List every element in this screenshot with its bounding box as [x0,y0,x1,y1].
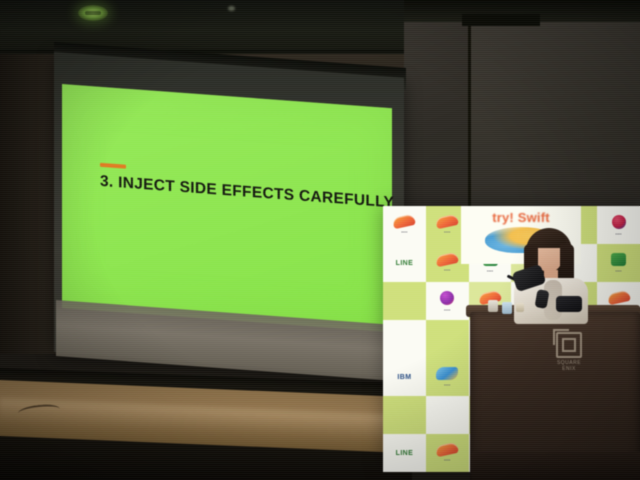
ceiling-light-icon [228,6,235,11]
sponsor-tile-caption: •••• [444,307,450,312]
sponsor-tile: •••• [426,434,469,472]
sponsor-tile [383,396,426,434]
sponsor-tile-caption: •••• [444,229,450,234]
sponsor-tile-content: •••• [436,216,458,234]
sponsor-tile-caption: •••• [615,268,621,273]
sponsor-tile-caption: •••• [615,231,621,236]
sponsor-tile-content: •••• [393,216,415,234]
sponsor-tile-caption: •••• [444,267,450,272]
sponsor-tile-content: LINE [396,260,414,267]
podium-base [472,452,640,480]
av-equipment [556,296,582,312]
sponsor-tile: IBM [383,358,426,396]
sponsor-tile-content: •••• [440,291,454,312]
circle-logo-icon [612,215,626,229]
sponsor-logo-label: LINE [396,450,414,457]
sponsor-logo-label: LINE [396,260,414,267]
circle-logo-purple-icon [440,291,454,305]
blue-swoosh-logo-icon [436,367,458,380]
banner-brand-text: try! Swift [492,210,550,225]
sponsor-tile-content: •••• [436,367,458,387]
shrimp-logo-icon [435,442,459,457]
exit-sign-icon [78,5,108,21]
sponsor-tile-content: IBM [397,374,411,381]
sponsor-tile: •••• [426,358,469,396]
upper-beam-shadow [462,14,540,26]
sponsor-tile-caption: •••• [444,457,450,462]
sponsor-tile [383,320,426,358]
sponsor-tile: •••• [426,282,469,320]
sponsor-logo-label: IBM [397,374,411,381]
podium-caption: SQUARE ENIX [557,360,581,373]
desk-object-b [502,302,512,314]
sponsor-tile: LINE [383,434,426,472]
sponsor-tile-caption: •••• [487,268,493,273]
shrimp-logo-icon [435,214,459,229]
sponsor-tile: •••• [597,244,640,282]
sponsor-tile [426,396,469,434]
sponsor-tile-caption: •••• [401,229,407,234]
shrimp-logo-icon [435,252,459,267]
desk-object-a [488,300,498,312]
square-green-logo-icon [611,253,626,266]
sponsor-tile: •••• [597,206,640,244]
sponsor-tile [383,282,426,320]
conference-photo: 3. INJECT SIDE EFFECTS CAREFULLY •••••••… [0,0,640,480]
sponsor-tile-content: •••• [611,253,626,273]
presentation-slide: 3. INJECT SIDE EFFECTS CAREFULLY [62,84,392,332]
right-wall-panel [470,16,640,216]
sponsor-tile: •••• [383,206,426,244]
podium-logo: SQUARE ENIX [552,332,586,376]
shrimp-logo-icon [607,290,631,305]
sponsor-tile-content: •••• [612,215,626,236]
sponsor-tile-content: LINE [396,450,414,457]
sponsor-tile-content: •••• [436,444,458,462]
sponsor-tile [426,320,469,358]
sponsor-tile-caption: •••• [444,382,450,387]
desk-object-c [516,303,524,312]
sponsor-tile-content: •••• [436,254,458,272]
sponsor-tile: LINE [383,244,426,282]
wall-seam [468,16,471,216]
podium-emblem-icon [556,332,582,358]
shrimp-logo-icon [393,214,417,229]
